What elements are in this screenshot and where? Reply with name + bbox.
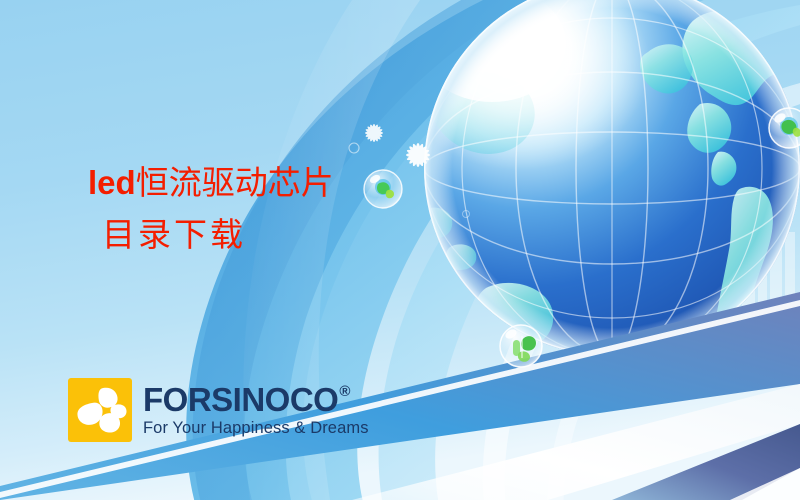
promo-banner: led恒流驱动芯片 目录下载 FORSINOCO ® For Your Happ… <box>0 0 800 500</box>
petal-top <box>98 388 117 408</box>
sparkle-flower-large <box>406 143 430 167</box>
registered-trademark-icon: ® <box>339 384 350 399</box>
sparkle-flower-small <box>365 124 383 142</box>
logo-wordmark: FORSINOCO ® <box>143 383 369 416</box>
headline-line-2: 目录下载 <box>102 217 334 253</box>
headline-latin-prefix: led <box>88 164 136 201</box>
forsinoco-logo: FORSINOCO ® For Your Happiness & Dreams <box>68 378 369 442</box>
logo-name-text: FORSINOCO <box>143 383 338 416</box>
petal-bottom <box>99 413 120 432</box>
bubble-seedling <box>500 325 542 367</box>
headline-block: led恒流驱动芯片 目录下载 <box>88 165 334 252</box>
logo-wordmark-block: FORSINOCO ® For Your Happiness & Dreams <box>143 383 369 437</box>
forsinoco-pinwheel-mark <box>68 378 132 442</box>
logo-tagline: For Your Happiness & Dreams <box>143 420 369 437</box>
headline-cjk-text: 恒流驱动芯片 <box>136 164 334 201</box>
petal-left <box>77 403 102 425</box>
headline-line-1: led恒流驱动芯片 <box>88 165 334 201</box>
bubble-globe-small <box>364 170 402 208</box>
